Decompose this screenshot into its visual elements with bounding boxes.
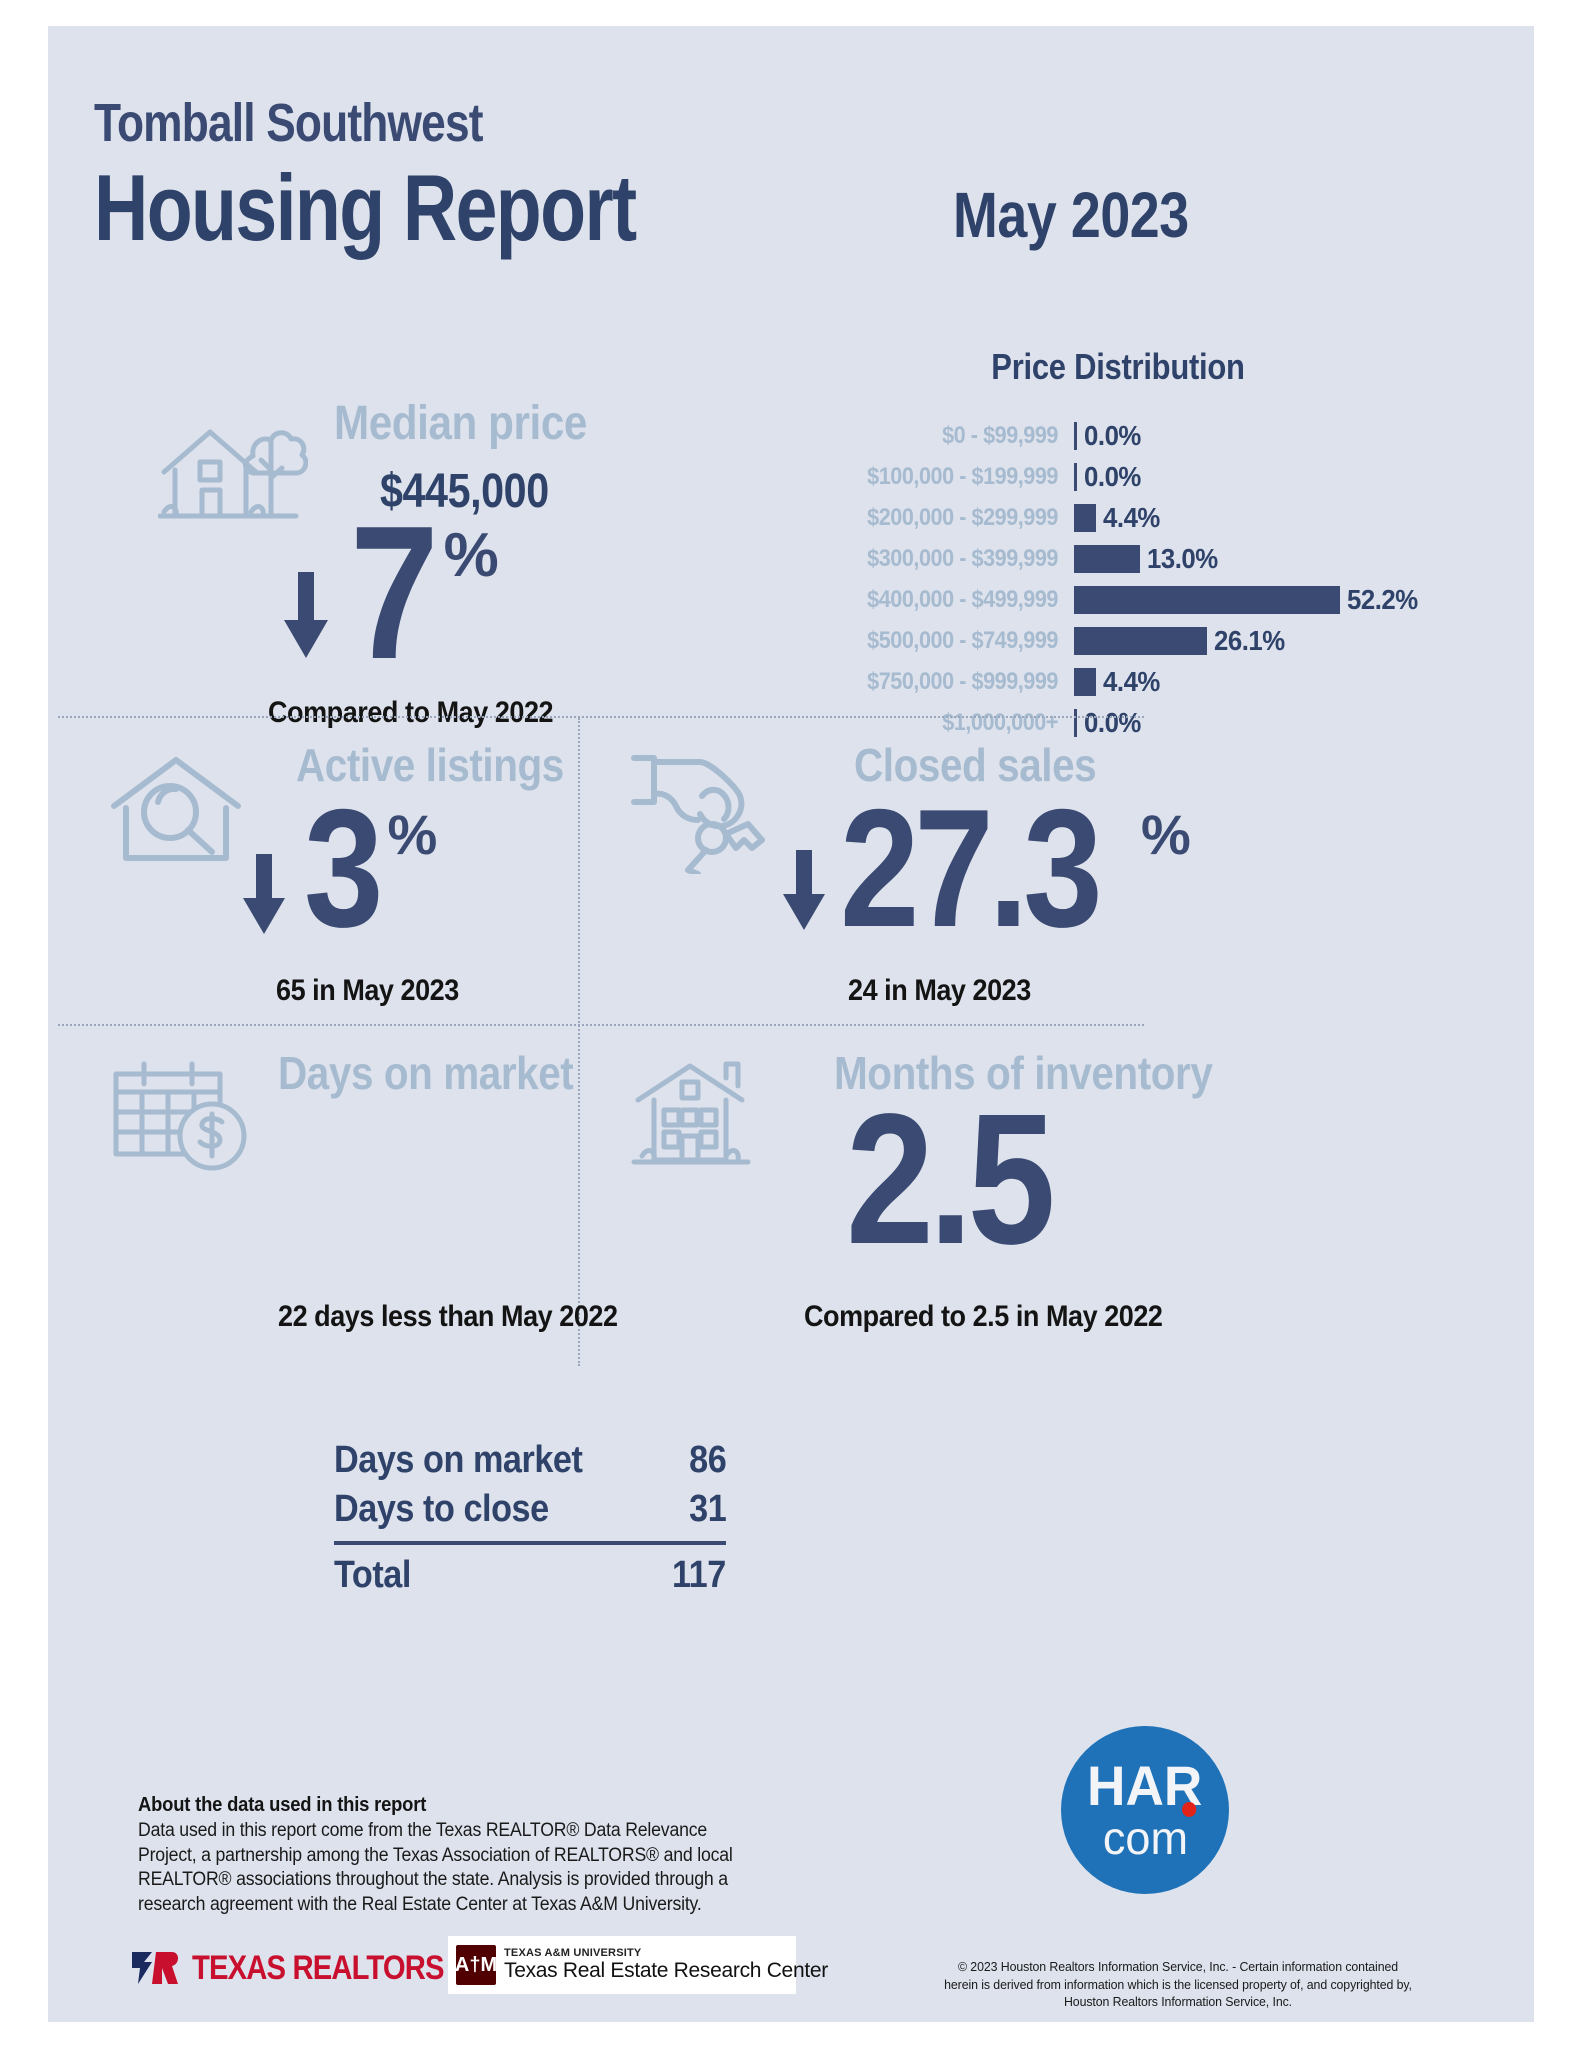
days-on-market-label: Days on market (278, 1046, 573, 1100)
down-arrow-icon (778, 850, 830, 930)
price-dist-value: 4.4% (1103, 666, 1160, 698)
price-dist-bar-wrap: 4.4% (1074, 666, 1165, 698)
price-dist-label: $750,000 - $999,999 (833, 668, 1058, 696)
price-dist-row: $0 - $99,999 0.0% (808, 416, 1508, 456)
price-dist-value: 13.0% (1147, 543, 1218, 575)
down-arrow-icon (278, 572, 334, 658)
price-dist-row: $200,000 - $299,999 4.4% (808, 498, 1508, 538)
price-dist-bar-wrap: 4.4% (1074, 502, 1165, 534)
price-dist-label: $200,000 - $299,999 (833, 504, 1058, 532)
divider-horizontal-2 (58, 1024, 1144, 1026)
report-sheet: Tomball Southwest Housing Report May 202… (48, 26, 1534, 2022)
table-rule (334, 1541, 726, 1545)
dom-row-label: Days to close (334, 1485, 549, 1534)
texas-realtors-mark-icon (130, 1948, 182, 1988)
hand-holding-keys-icon (630, 750, 780, 874)
city-name: Tomball Southwest (94, 96, 649, 150)
price-dist-value: 0.0% (1084, 707, 1141, 739)
active-listings-pct: 3 (304, 798, 378, 939)
divider-vertical (578, 718, 580, 1366)
texas-realtors-logo: TEXAS REALTORS (130, 1944, 485, 1992)
price-distribution-rows: $0 - $99,999 0.0% $100,000 - $199,999 0.… (808, 416, 1508, 743)
price-dist-label: $300,000 - $399,999 (833, 545, 1058, 573)
price-dist-label: $500,000 - $749,999 (833, 627, 1058, 655)
dom-row-label: Days on market (334, 1436, 582, 1485)
closed-sales-pct: 27.3 (840, 798, 1098, 939)
median-pct-sign: % (444, 520, 499, 591)
table-row: Days to close 31 (334, 1485, 726, 1534)
price-dist-bar (1074, 668, 1096, 696)
price-dist-value: 26.1% (1214, 625, 1285, 657)
price-dist-bar-wrap: 52.2% (1074, 584, 1424, 616)
dom-total-label: Total (334, 1551, 411, 1600)
price-dist-value: 0.0% (1084, 420, 1141, 452)
copyright-text: © 2023 Houston Realtors Information Serv… (941, 1958, 1416, 2011)
report-page: Tomball Southwest Housing Report May 202… (0, 0, 1582, 2048)
report-month: May 2023 (953, 178, 1189, 252)
har-logo-bottom: com (1102, 1815, 1187, 1861)
dom-total-value: 117 (672, 1551, 726, 1600)
price-dist-bar-wrap: 0.0% (1074, 420, 1146, 452)
about-title: About the data used in this report (138, 1794, 708, 1817)
median-price-label: Median price (334, 396, 587, 451)
about-the-data: About the data used in this report Data … (138, 1794, 758, 1918)
about-body: Data used in this report come from the T… (138, 1819, 733, 1918)
closed-sales-change-row: 27.3 % (778, 798, 1191, 939)
price-dist-label: $100,000 - $199,999 (833, 463, 1058, 491)
texas-am-logo: A†M TEXAS A&M UNIVERSITY Texas Real Esta… (448, 1936, 796, 1994)
price-dist-row: $100,000 - $199,999 0.0% (808, 457, 1508, 497)
price-dist-bar (1074, 422, 1077, 450)
closed-sales-pct-sign: % (1141, 802, 1191, 867)
price-dist-bar (1074, 586, 1340, 614)
closed-sales-sub: 24 in May 2023 (848, 974, 1031, 1008)
price-dist-row: $300,000 - $399,999 13.0% (808, 539, 1508, 579)
down-arrow-icon (238, 854, 290, 934)
months-of-inventory-sub: Compared to 2.5 in May 2022 (804, 1300, 1162, 1334)
dom-row-value: 86 (689, 1436, 726, 1485)
texas-real-estate-research-center-label: Texas Real Estate Research Center (504, 1959, 828, 1983)
price-dist-label: $1,000,000+ (833, 709, 1058, 737)
price-dist-value: 52.2% (1347, 584, 1418, 616)
price-dist-row: $750,000 - $999,999 4.4% (808, 662, 1508, 702)
house-with-magnifier-icon (108, 754, 244, 864)
price-dist-bar-wrap: 26.1% (1074, 625, 1291, 657)
median-compared-text: Compared to May 2022 (268, 696, 553, 730)
calendar-dollar-icon (110, 1056, 260, 1172)
table-row-total: Total 117 (334, 1551, 726, 1600)
price-dist-value: 4.4% (1103, 502, 1160, 534)
apartment-building-icon (630, 1056, 782, 1174)
price-distribution-title: Price Distribution (894, 346, 1341, 388)
days-on-market-sub: 22 days less than May 2022 (278, 1300, 618, 1334)
price-dist-bar (1074, 504, 1096, 532)
days-on-market-table: Days on market 86 Days to close 31 Total… (334, 1436, 726, 1600)
dom-row-value: 31 (689, 1485, 726, 1534)
table-row: Days on market 86 (334, 1436, 726, 1485)
price-dist-bar (1074, 463, 1077, 491)
price-dist-label: $400,000 - $499,999 (833, 586, 1058, 614)
price-dist-row: $1,000,000+ 0.0% (808, 703, 1508, 743)
price-distribution-chart: Price Distribution $0 - $99,999 0.0% $10… (808, 346, 1508, 744)
price-dist-bar (1074, 627, 1207, 655)
har-logo: HAR com (1061, 1726, 1229, 1894)
price-dist-row: $500,000 - $749,999 26.1% (808, 621, 1508, 661)
median-change-row: 7 % (278, 514, 499, 674)
report-header: Tomball Southwest Housing Report (94, 96, 771, 256)
active-listings-pct-sign: % (387, 802, 437, 867)
texas-am-text-block: TEXAS A&M UNIVERSITY Texas Real Estate R… (504, 1947, 828, 1983)
har-logo-top: HAR (1087, 1759, 1202, 1813)
price-dist-row: $400,000 - $499,999 52.2% (808, 580, 1508, 620)
price-dist-bar (1074, 545, 1140, 573)
price-dist-bar (1074, 709, 1077, 737)
price-dist-bar-wrap: 13.0% (1074, 543, 1224, 575)
median-change-pct: 7 (350, 514, 434, 674)
price-dist-label: $0 - $99,999 (833, 422, 1058, 450)
price-dist-value: 0.0% (1084, 461, 1141, 493)
page-title: Housing Report (94, 160, 636, 256)
house-with-tree-icon (158, 416, 308, 526)
active-listings-sub: 65 in May 2023 (276, 974, 459, 1008)
texas-am-mark-icon: A†M (456, 1945, 496, 1985)
price-dist-bar-wrap: 0.0% (1074, 461, 1146, 493)
months-of-inventory-value: 2.5 (846, 1102, 1050, 1258)
price-dist-bar-wrap: 0.0% (1074, 707, 1146, 739)
active-listings-change-row: 3 % (238, 798, 437, 939)
texas-realtors-text: TEXAS REALTORS (192, 1949, 444, 1988)
texas-am-university-label: TEXAS A&M UNIVERSITY (504, 1947, 828, 1959)
divider-horizontal-1 (58, 716, 1144, 718)
